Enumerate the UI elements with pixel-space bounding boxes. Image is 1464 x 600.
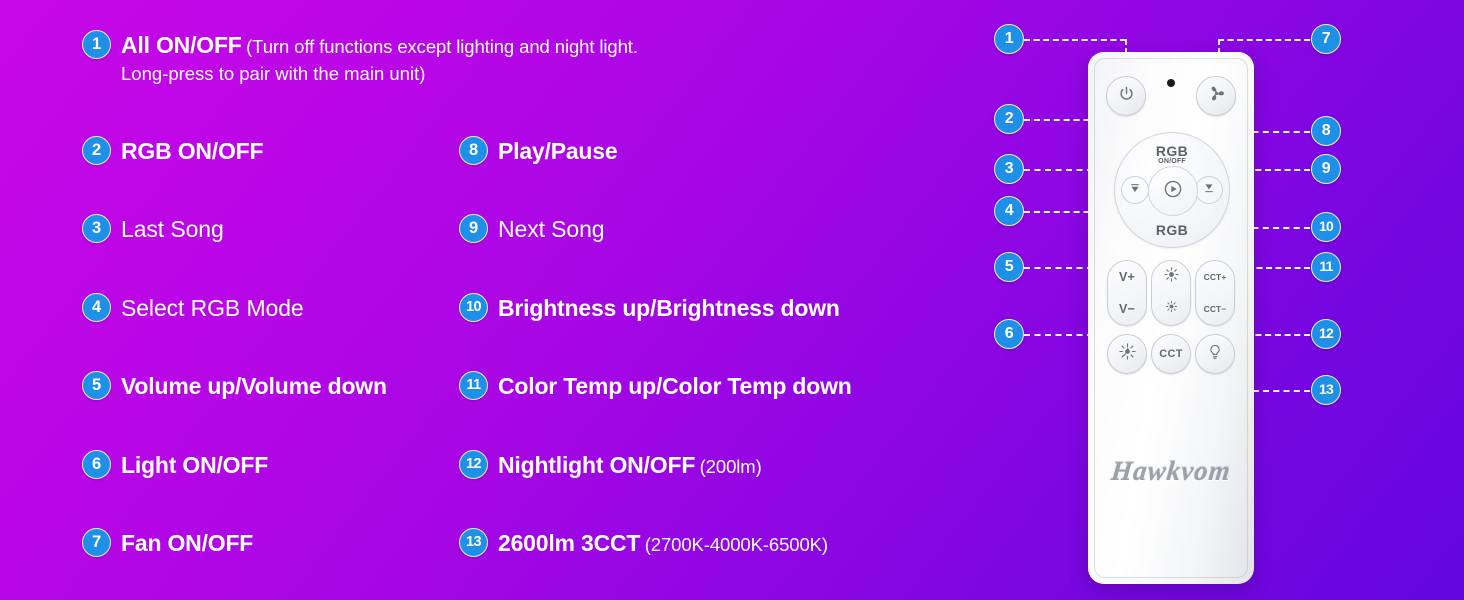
legend-item-7: 7 Fan ON/OFF bbox=[82, 528, 253, 558]
power-icon bbox=[1118, 85, 1135, 107]
legend-item-8: 8 Play/Pause bbox=[459, 136, 617, 166]
legend-title-9: Next Song bbox=[498, 216, 605, 242]
fan-button[interactable] bbox=[1196, 76, 1236, 116]
legend-text-13: 2600lm 3CCT (2700K-4000K-6500K) bbox=[498, 528, 828, 558]
legend-item-3: 3 Last Song bbox=[82, 214, 224, 244]
previous-track-icon bbox=[1127, 180, 1143, 201]
legend-note-1: (Turn off functions except lighting and … bbox=[246, 36, 638, 57]
sun-dim-icon bbox=[1164, 299, 1179, 319]
cct-up-button[interactable]: CCT+ bbox=[1196, 261, 1234, 293]
legend-item-9: 9 Next Song bbox=[459, 214, 605, 244]
legend-text-5: Volume up/Volume down bbox=[121, 371, 387, 401]
legend-badge-3: 3 bbox=[82, 214, 111, 243]
legend-title-5: Volume up/Volume down bbox=[121, 373, 387, 399]
legend-text-3: Last Song bbox=[121, 214, 224, 244]
legend-badge-10: 10 bbox=[459, 293, 488, 322]
legend-title-10: Brightness up/Brightness down bbox=[498, 295, 840, 321]
callout-2: 2 bbox=[994, 104, 1024, 134]
callout-10: 10 bbox=[1311, 212, 1341, 242]
callout-12: 12 bbox=[1311, 319, 1341, 349]
legend-title-12: Nightlight ON/OFF bbox=[498, 452, 695, 478]
ir-led-indicator bbox=[1167, 79, 1175, 87]
legend-panel: 1 All ON/OFF (Turn off functions except … bbox=[0, 0, 980, 600]
legend-badge-11: 11 bbox=[459, 371, 488, 400]
legend-item-13: 13 2600lm 3CCT (2700K-4000K-6500K) bbox=[459, 528, 828, 558]
brand-logo: Hawkvom bbox=[1086, 456, 1255, 487]
volume-rocker[interactable]: V+ V− bbox=[1107, 260, 1147, 326]
legend-title-2: RGB ON/OFF bbox=[121, 138, 263, 164]
cct-down-button[interactable]: CCT− bbox=[1196, 293, 1234, 325]
legend-title-6: Light ON/OFF bbox=[121, 452, 268, 478]
volume-up-button[interactable]: V+ bbox=[1108, 261, 1146, 293]
dial-top-label-sub: ON/OFF bbox=[1115, 158, 1229, 165]
dial-top-label-main: RGB bbox=[1115, 143, 1229, 159]
legend-title-7: Fan ON/OFF bbox=[121, 530, 253, 556]
legend-title-8: Play/Pause bbox=[498, 138, 617, 164]
fan-icon bbox=[1207, 84, 1226, 108]
rgb-light-button[interactable] bbox=[1107, 334, 1147, 374]
legend-badge-6: 6 bbox=[82, 450, 111, 479]
power-button[interactable] bbox=[1106, 76, 1146, 116]
legend-title-3: Last Song bbox=[121, 216, 224, 242]
legend-item-4: 4 Select RGB Mode bbox=[82, 293, 304, 323]
brightness-up-button[interactable] bbox=[1152, 261, 1190, 293]
callout-7: 7 bbox=[1311, 24, 1341, 54]
legend-text-6: Light ON/OFF bbox=[121, 450, 268, 480]
legend-title-1: All ON/OFF bbox=[121, 32, 242, 58]
leader-line-7 bbox=[1218, 39, 1310, 41]
legend-item-10: 10 Brightness up/Brightness down bbox=[459, 293, 840, 323]
legend-text-4: Select RGB Mode bbox=[121, 293, 304, 323]
callout-4: 4 bbox=[994, 196, 1024, 226]
rgb-dial: RGB ON/OFF RGB bbox=[1114, 132, 1230, 248]
sun-bright-icon bbox=[1163, 266, 1180, 288]
legend-item-1: 1 All ON/OFF (Turn off functions except … bbox=[82, 30, 762, 86]
brightness-rocker[interactable] bbox=[1151, 260, 1191, 326]
dial-bottom-label: RGB bbox=[1115, 222, 1229, 238]
legend-text-8: Play/Pause bbox=[498, 136, 617, 166]
nightlight-button[interactable] bbox=[1195, 334, 1235, 374]
volume-up-label: V+ bbox=[1119, 270, 1135, 284]
volume-down-button[interactable]: V− bbox=[1108, 293, 1146, 325]
legend-text-9: Next Song bbox=[498, 214, 605, 244]
legend-item-5: 5 Volume up/Volume down bbox=[82, 371, 387, 401]
dial-top-label: RGB ON/OFF bbox=[1115, 143, 1229, 165]
bulb-icon bbox=[1206, 343, 1224, 366]
legend-text-2: RGB ON/OFF bbox=[121, 136, 263, 166]
rgb-star-icon bbox=[1118, 342, 1137, 366]
cct-up-label: CCT+ bbox=[1204, 272, 1227, 282]
legend-text-10: Brightness up/Brightness down bbox=[498, 293, 840, 323]
legend-badge-4: 4 bbox=[82, 293, 111, 322]
legend-text-7: Fan ON/OFF bbox=[121, 528, 253, 558]
legend-text-1: All ON/OFF (Turn off functions except li… bbox=[121, 30, 638, 86]
callout-1: 1 bbox=[994, 24, 1024, 54]
legend-title-13: 2600lm 3CCT bbox=[498, 530, 640, 556]
callout-5: 5 bbox=[994, 252, 1024, 282]
legend-badge-7: 7 bbox=[82, 528, 111, 557]
legend-badge-2: 2 bbox=[82, 136, 111, 165]
cct-down-label: CCT− bbox=[1204, 304, 1227, 314]
callout-6: 6 bbox=[994, 319, 1024, 349]
legend-text-12: Nightlight ON/OFF (200lm) bbox=[498, 450, 762, 480]
legend-badge-8: 8 bbox=[459, 136, 488, 165]
next-track-button[interactable] bbox=[1195, 176, 1223, 204]
cct-button-label: CCT bbox=[1159, 348, 1183, 360]
callout-11: 11 bbox=[1311, 252, 1341, 282]
legend-badge-12: 12 bbox=[459, 450, 488, 479]
legend-title-4: Select RGB Mode bbox=[121, 295, 304, 321]
legend-badge-5: 5 bbox=[82, 371, 111, 400]
legend-badge-13: 13 bbox=[459, 528, 488, 557]
leader-line-1 bbox=[1024, 39, 1126, 41]
remote-control-body: RGB ON/OFF RGB bbox=[1088, 52, 1254, 584]
legend-item-11: 11 Color Temp up/Color Temp down bbox=[459, 371, 852, 401]
callout-8: 8 bbox=[1311, 116, 1341, 146]
next-track-icon bbox=[1201, 180, 1217, 201]
color-temp-rocker[interactable]: CCT+ CCT− bbox=[1195, 260, 1235, 326]
legend-badge-9: 9 bbox=[459, 214, 488, 243]
legend-title-11: Color Temp up/Color Temp down bbox=[498, 373, 852, 399]
legend-item-2: 2 RGB ON/OFF bbox=[82, 136, 263, 166]
legend-note-12: (200lm) bbox=[700, 456, 762, 477]
legend-item-6: 6 Light ON/OFF bbox=[82, 450, 268, 480]
legend-item-12: 12 Nightlight ON/OFF (200lm) bbox=[459, 450, 762, 480]
legend-note-13: (2700K-4000K-6500K) bbox=[645, 534, 828, 555]
volume-down-label: V− bbox=[1119, 302, 1135, 316]
play-icon bbox=[1162, 178, 1184, 205]
cct-button[interactable]: CCT bbox=[1151, 334, 1191, 374]
previous-track-button[interactable] bbox=[1121, 176, 1149, 204]
play-pause-button[interactable] bbox=[1148, 166, 1198, 216]
legend-text-11: Color Temp up/Color Temp down bbox=[498, 371, 852, 401]
callout-13: 13 bbox=[1311, 375, 1341, 405]
product-feature-graphic: 1 All ON/OFF (Turn off functions except … bbox=[0, 0, 1464, 600]
callout-3: 3 bbox=[994, 154, 1024, 184]
legend-note-1-line2: Long-press to pair with the main unit) bbox=[121, 62, 638, 86]
brightness-down-button[interactable] bbox=[1152, 293, 1190, 325]
callout-9: 9 bbox=[1311, 154, 1341, 184]
legend-badge-1: 1 bbox=[82, 30, 111, 59]
